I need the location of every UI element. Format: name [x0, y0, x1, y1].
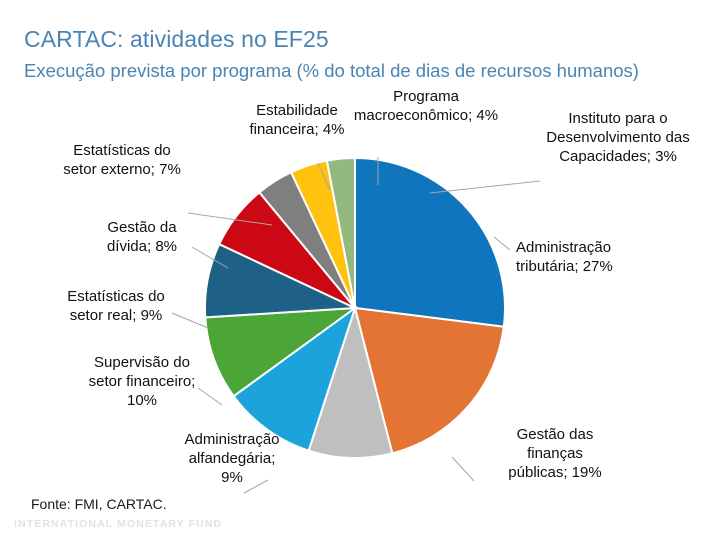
slide-canvas: CARTAC: atividades no EF25 Execução prev… [0, 0, 720, 540]
pie-label-supervisao-setor-financeiro: Supervisão do setor financeiro; 10% [52, 353, 232, 411]
pie-label-programa-macroeconomico: Programa macroeconômico; 4% [320, 87, 532, 125]
imf-watermark: INTERNATIONAL MONETARY FUND [14, 518, 222, 530]
pie-label-gestao-divida: Gestão da dívida; 8% [62, 218, 222, 256]
pie-label-estatisticas-setor-externo: Estatísticas do setor externo; 7% [26, 141, 218, 179]
page-title: CARTAC: atividades no EF25 [24, 26, 329, 53]
source-note: Fonte: FMI, CARTAC. [31, 496, 167, 512]
leader-line-administracao-tributaria [494, 237, 510, 250]
pie-label-gestao-financas-publicas: Gestão das finanças públicas; 19% [455, 425, 655, 483]
pie-label-estatisticas-setor-real: Estatísticas do setor real; 9% [30, 287, 202, 325]
pie-label-instituto-desenvolvimento: Instituto para o Desenvolvimento das Cap… [519, 109, 717, 167]
leader-line-instituto-desenvolvimento [430, 181, 540, 193]
pie-label-administracao-alfandegaria: Administração alfandegária; 9% [132, 430, 332, 488]
pie-slice-group [205, 158, 505, 458]
pie-chart: Administração tributária; 27% Gestão das… [0, 85, 720, 495]
pie-label-administracao-tributaria: Administração tributária; 27% [516, 238, 706, 276]
page-subtitle: Execução prevista por programa (% do tot… [24, 60, 639, 82]
